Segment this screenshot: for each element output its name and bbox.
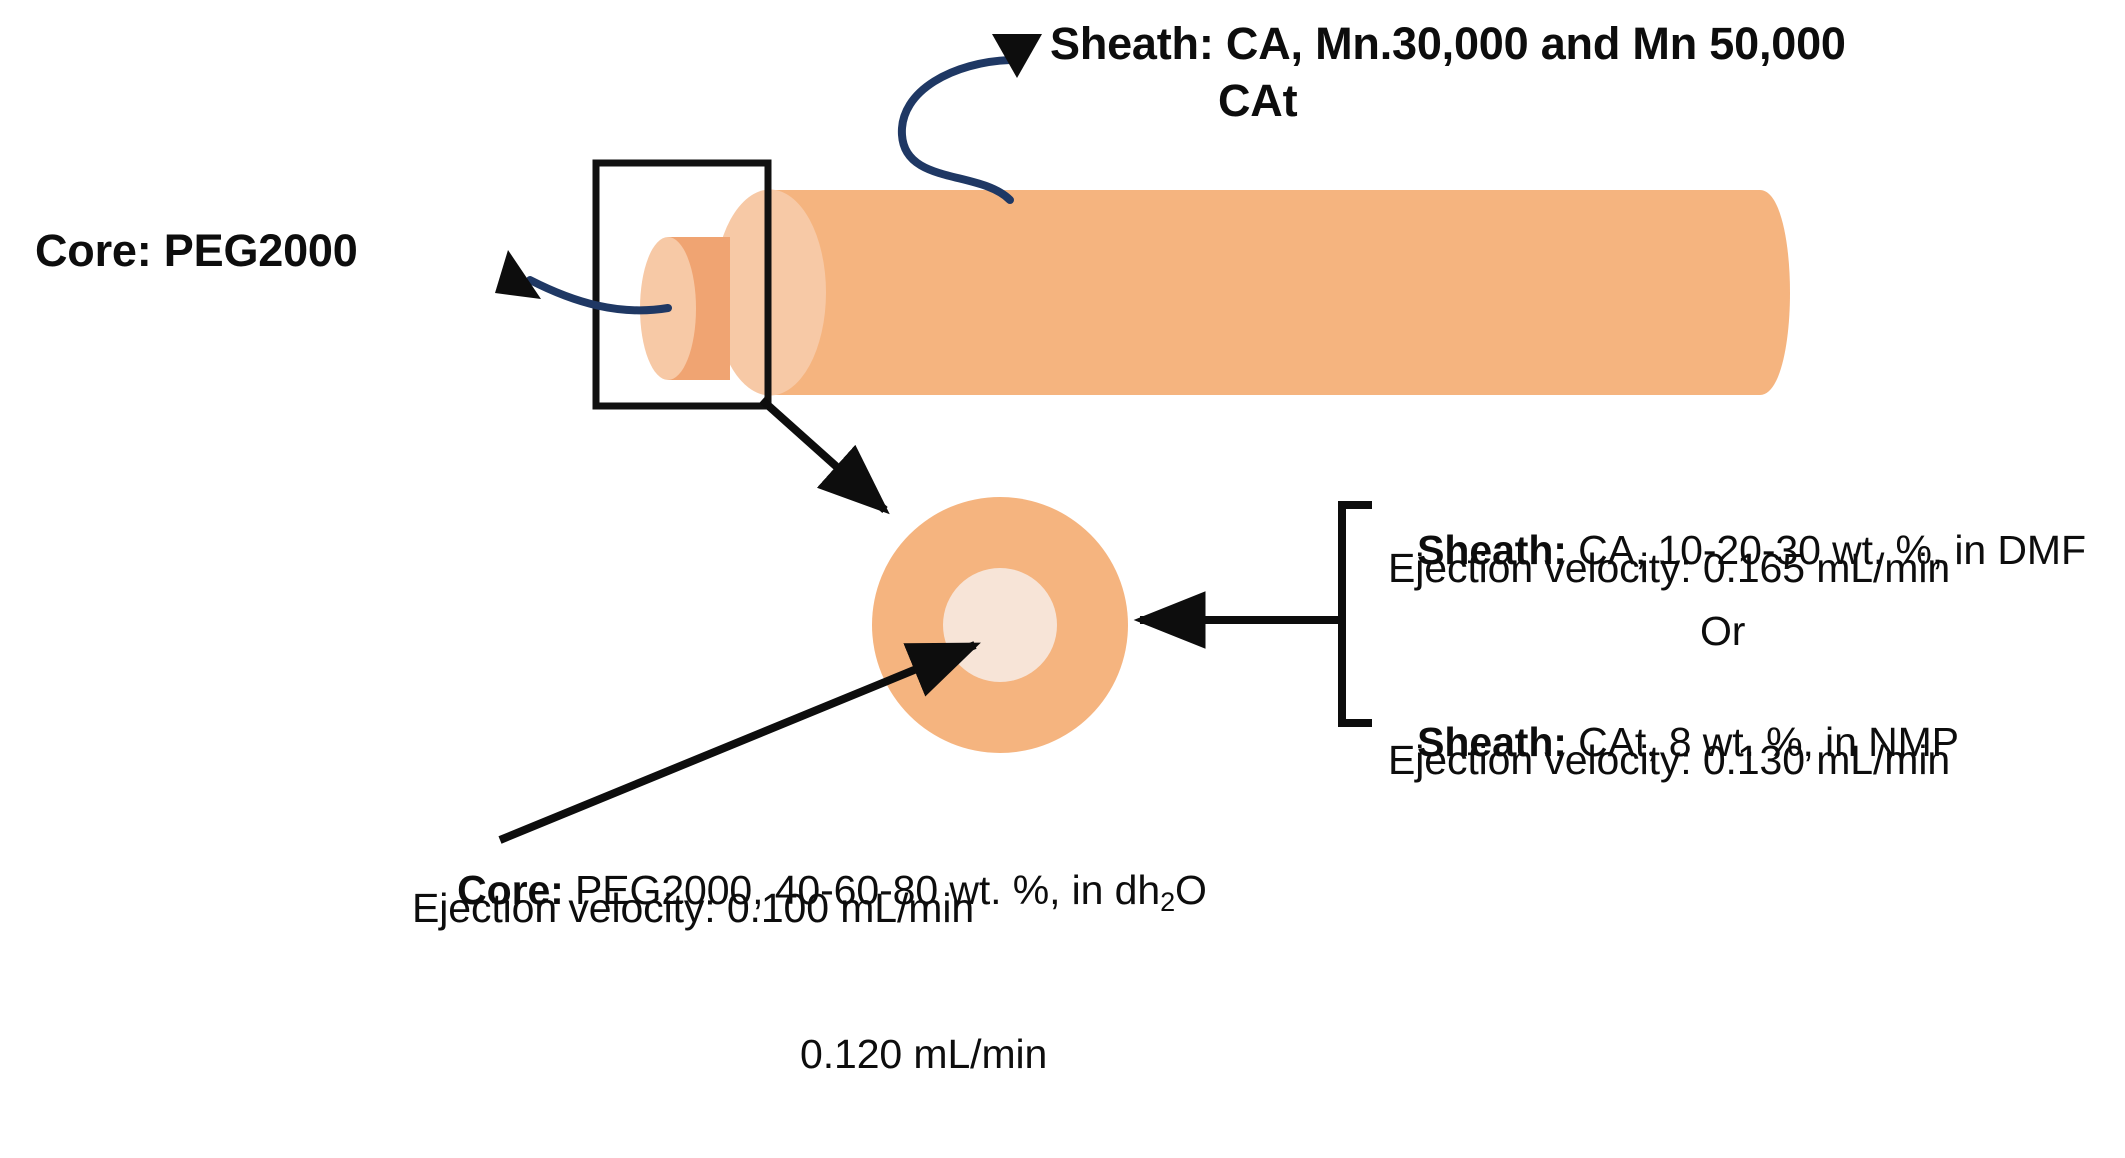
- sheath-options-bracket: [1320, 505, 1368, 723]
- cross-section-core-disc: [943, 568, 1057, 682]
- core-detail-arrow: [500, 645, 975, 840]
- sheath-option-a-velocity: Ejection velocity: 0.165 mL/min: [1388, 545, 1950, 592]
- fiber-cylinder: [714, 190, 1790, 396]
- top-sheath-callout-line1: Sheath: CA, Mn.30,000 and Mn 50,000: [1050, 18, 1846, 69]
- core-spec-subscript: 2: [1160, 886, 1175, 916]
- top-sheath-callout-line2: CAt: [1218, 75, 1297, 126]
- sheath-option-b-velocity: Ejection velocity: 0.130 mL/min: [1388, 737, 1950, 784]
- figure-canvas: Sheath: CA, Mn.30,000 and Mn 50,000 CAt …: [0, 0, 2125, 1158]
- core-velocity-item: 0.120 mL/min: [800, 1031, 1047, 1078]
- core-velocity-list: 0.120 mL/min 0.130 mL/min 0.140 mL/min 0…: [800, 938, 1047, 1158]
- sheath-barrel: [770, 190, 1790, 395]
- core-callout-arrowhead: [495, 250, 541, 299]
- sheath-options-or: Or: [1700, 608, 1745, 655]
- left-core-callout: Core: PEG2000: [35, 225, 358, 276]
- core-spec-rest-post: O: [1175, 867, 1207, 913]
- sheath-callout-arrow: [902, 34, 1042, 200]
- core-velocity-primary: Ejection velocity: 0.100 mL/min: [412, 885, 974, 932]
- zoom-indicator-arrow: [762, 400, 885, 510]
- sheath-callout-arrowhead: [992, 34, 1042, 78]
- fiber-cross-section: [872, 497, 1128, 753]
